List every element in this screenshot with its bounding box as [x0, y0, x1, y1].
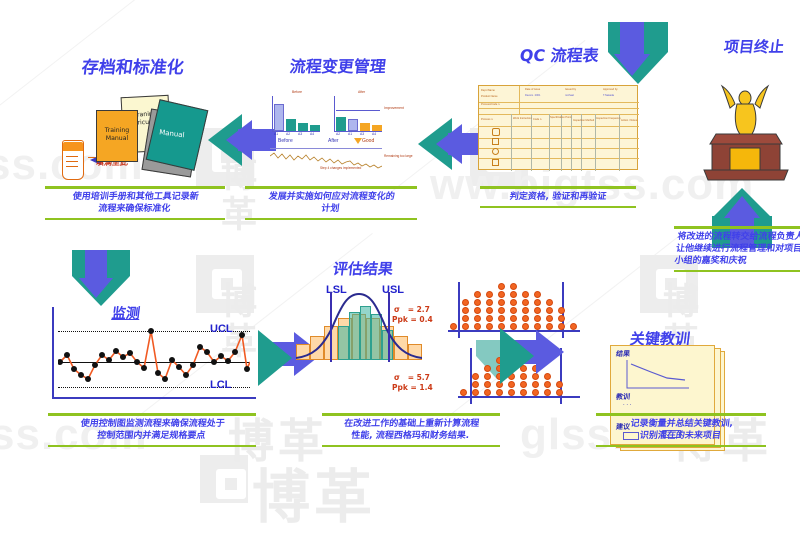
book-training-manual: Training Manual — [96, 110, 138, 162]
ucl-label: UCL — [210, 323, 233, 335]
diagram-canvas: ss.com ww.bigtss.com ss.com glss.com 博革 … — [0, 0, 800, 500]
caption-rule-bottom — [48, 445, 256, 448]
caption-text: 发展并实施如何应对流程变化的计划 — [243, 189, 418, 216]
heading-evaluate-results: 评估结果 — [332, 258, 395, 279]
qc-header-value: michael — [565, 94, 574, 97]
good-label: Good — [362, 138, 374, 144]
after-cat: A2 — [336, 132, 340, 136]
card-bullets: . . . — [623, 402, 631, 407]
caption-process-change-management: 发展并实施如何应对流程变化的计划 — [245, 186, 417, 220]
qc-column-header: Inspection Frequency — [596, 117, 621, 120]
run-after-label: After — [328, 138, 339, 144]
qc-column-header: Process n. — [481, 118, 493, 121]
caption-evaluate-results: 在改进工作的基础上重新计算流程性能, 流程西格玛和财务结果. — [322, 413, 500, 447]
after-cat: A1 — [348, 132, 352, 136]
caption-rule-bottom — [480, 206, 636, 209]
book-label-line: Training — [105, 127, 129, 134]
caption-text: 使用培训手册和其他工具记录新流程来确保标准化 — [43, 189, 226, 216]
caption-project-closure: 将改进的流程转交给流程负责人 让他继续进行流程管理和对项目 小组的嘉奖和庆祝 — [674, 226, 800, 272]
book-label-line: Manual — [159, 128, 185, 139]
qc-left-field: Process/Code n. — [481, 103, 500, 106]
qc-left-field: Dept./Name — [481, 89, 495, 92]
caption-qc-process-sheet: 判定资格, 验证和再验证 — [480, 186, 636, 208]
caption-rule-bottom — [45, 218, 225, 221]
arrow-left-qc-to-change — [418, 118, 486, 170]
caption-text: 判定资格, 验证和再验证 — [479, 189, 637, 204]
trophy-graphic — [690, 72, 800, 182]
heading-process-change-management: 流程变更管理 — [289, 53, 388, 77]
caption-rule-bottom — [245, 218, 417, 221]
caption-monitor: 使用控制图监测流程来确保流程处于控制范围内并满足规格要点 — [48, 413, 256, 447]
card-mini-chart — [623, 358, 693, 392]
before-cat: A4 — [310, 132, 314, 136]
after-title: After — [358, 90, 365, 94]
ppk-after: Ppk = 1.4 — [392, 383, 433, 392]
before-title: Before — [292, 90, 302, 94]
book-label-line: Manual — [106, 135, 128, 142]
qc-header-value: T.Nakada — [603, 94, 614, 97]
annotation-step4: Step 4 changes implemented — [320, 166, 361, 170]
caption-text: 记录衡量并总结关键教训,识别潜在的未来项目 — [594, 416, 767, 443]
heading-archive-standardize: 存档和标准化 — [80, 53, 185, 78]
lcl-label: LCL — [210, 379, 231, 391]
caption-rule-bottom — [596, 445, 766, 448]
after-cat: A4 — [372, 132, 376, 136]
qc-header-field: Issued by — [565, 88, 576, 91]
before-cat: A2 — [286, 132, 290, 136]
arrow-right-evaluate-to-lessons — [500, 328, 578, 384]
beaker-graphic — [60, 140, 86, 182]
arrow-down-archive-to-monitor — [72, 250, 130, 308]
heading-qc-process-sheet: QC 流程表 — [519, 42, 601, 66]
qc-column-header: Specification Point — [550, 116, 571, 119]
qc-column-header: Inspection Method — [573, 119, 594, 122]
before-cat: A3 — [298, 132, 302, 136]
caption-text: 使用控制图监测流程来确保流程处于控制范围内并满足规格要点 — [46, 416, 257, 443]
qc-column-header: Code n. — [533, 118, 542, 121]
lsl-line — [330, 292, 332, 362]
qc-header-field: Approved by — [603, 88, 618, 91]
ppk-before: Ppk = 0.4 — [392, 315, 433, 324]
caption-archive-standardize: 使用培训手册和其他工具记录新流程来确保标准化 — [45, 186, 225, 220]
arrow-down-closure-to-qc — [608, 22, 668, 84]
improvement-label: Improvement — [384, 106, 404, 110]
control-chart: UCL LCL — [50, 307, 260, 403]
sigma-before: σ = 2.7 — [394, 305, 430, 314]
sigma-after: σ = 5.7 — [394, 373, 430, 382]
remaining-label: Remaining too large — [384, 154, 413, 158]
caption-rule-bottom — [674, 270, 800, 273]
capability-histogram: LSL USL — [296, 282, 456, 378]
qc-column-header: Work Instruction — [513, 117, 532, 120]
watermark-bottom-brand: 博革 — [252, 450, 376, 534]
run-before-label: Before — [278, 138, 293, 144]
caption-rule-bottom — [322, 445, 500, 448]
heading-project-closure: 项目终止 — [723, 36, 786, 57]
before-cat: A1 — [274, 132, 278, 136]
qc-header-field: Date of issue — [525, 88, 540, 91]
before-after-minichart: Before A1 A2 A3 A4 After A2 A1 A3 A4 Imp… — [266, 90, 390, 178]
caption-text: 在改进工作的基础上重新计算流程性能, 流程西格玛和财务结果. — [320, 416, 501, 443]
usl-line — [388, 292, 390, 362]
caption-text: 将改进的流程转交给流程负责人 让他继续进行流程管理和对项目 小组的嘉奖和庆祝 — [672, 229, 800, 268]
after-cat: A3 — [360, 132, 364, 136]
qc-header-value: Decem. 2001 — [525, 94, 540, 97]
qc-process-sheet: Dept./Name Product Name Process/Code n. … — [478, 85, 638, 170]
qc-column-header: Action / Notes — [621, 119, 637, 122]
qc-left-field: Product Name — [481, 95, 498, 98]
caption-key-lessons: 记录衡量并总结关键教训,识别潜在的未来项目 — [596, 413, 766, 447]
